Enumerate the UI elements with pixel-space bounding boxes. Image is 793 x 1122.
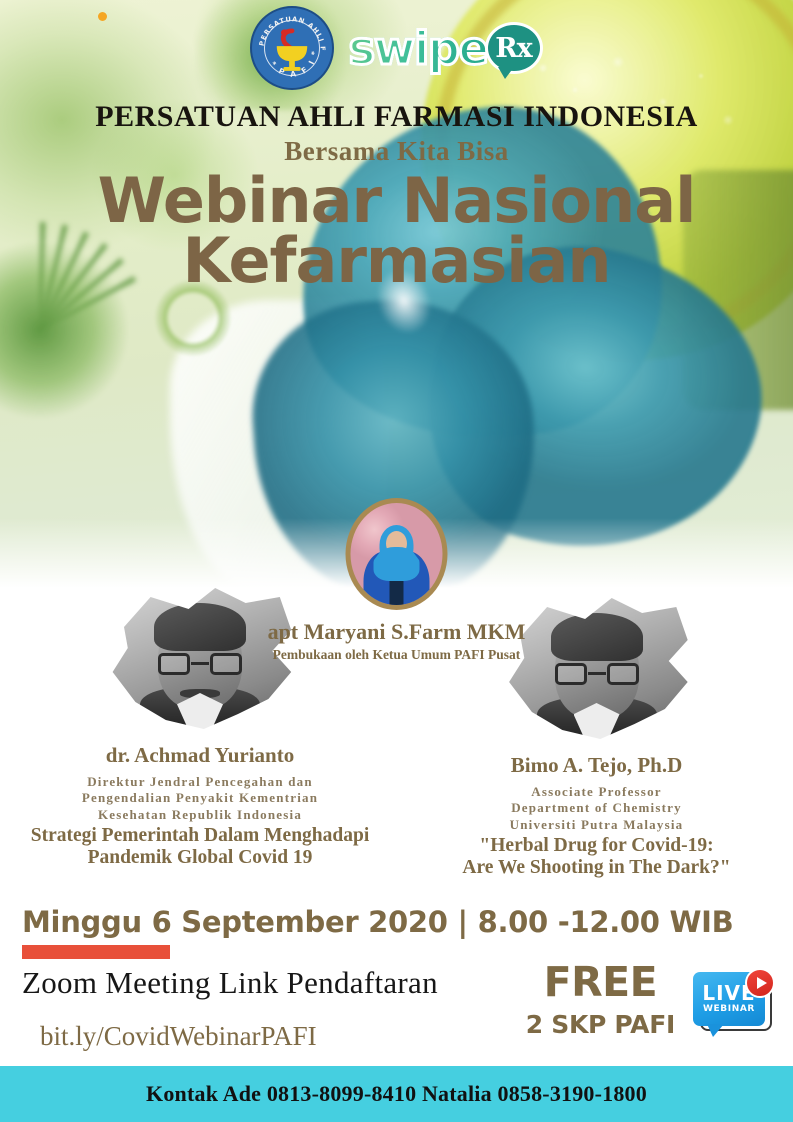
contact-footer: Kontak Ade 0813-8099-8410 Natalia 0858-3… bbox=[0, 1066, 793, 1122]
host-scarf-shape bbox=[374, 547, 420, 581]
page-title: Webinar Nasional Kefarmasian bbox=[0, 171, 793, 291]
speaker-left-topic-line2: Pandemik Global Covid 19 bbox=[0, 847, 400, 869]
pafi-bowl-of-hygieia-icon: PERSATUAN AHLI FARMASI INDONESIA * P A F… bbox=[252, 8, 332, 88]
host-block: apt Maryani S.Farm MKM Pembukaan oleh Ke… bbox=[0, 498, 793, 663]
speaker-right-affiliation-line2: Department of Chemistry bbox=[400, 800, 793, 816]
play-icon bbox=[745, 968, 775, 998]
logo-row: PERSATUAN AHLI FARMASI INDONESIA * P A F… bbox=[0, 6, 793, 90]
red-accent-bar bbox=[22, 945, 170, 959]
speaker-right-affiliation-line1: Associate Professor bbox=[400, 784, 793, 800]
rx-label: Rx bbox=[495, 33, 532, 64]
title-block: PERSATUAN AHLI FARMASI INDONESIA Bersama… bbox=[0, 100, 793, 291]
speaker-left-affiliation-line3: Kesehatan Republik Indonesia bbox=[0, 807, 400, 823]
speaker-right-topic-line2: Are We Shooting in The Dark?" bbox=[400, 857, 793, 879]
skp-label: 2 SKP PAFI bbox=[526, 1010, 675, 1039]
speaker-right-affiliation: Associate Professor Department of Chemis… bbox=[400, 784, 793, 833]
live-webinar-badge: LIVE WEBINAR bbox=[689, 968, 781, 1050]
event-date-time: Minggu 6 September 2020 | 8.00 -12.00 WI… bbox=[0, 905, 793, 939]
speaker-left-affiliation-line2: Pengendalian Penyakit Kementrian bbox=[0, 790, 400, 806]
organization-name: PERSATUAN AHLI FARMASI INDONESIA bbox=[0, 100, 793, 134]
pafi-logo: PERSATUAN AHLI FARMASI INDONESIA * P A F… bbox=[250, 6, 334, 90]
speaker-left-topic-line1: Strategi Pemerintah Dalam Menghadapi bbox=[0, 825, 400, 847]
rx-speech-bubble-icon: Rx bbox=[485, 22, 543, 74]
speaker-left-affiliation: Direktur Jendral Pencegahan dan Pengenda… bbox=[0, 774, 400, 823]
swipe-rx-logo: swipe Rx bbox=[348, 22, 542, 75]
speaker-left-topic: Strategi Pemerintah Dalam Menghadapi Pan… bbox=[0, 825, 400, 869]
free-label: FREE bbox=[526, 962, 675, 1003]
contact-info: Kontak Ade 0813-8099-8410 Natalia 0858-3… bbox=[146, 1081, 647, 1107]
host-avatar bbox=[346, 498, 448, 610]
speaker-left-affiliation-line1: Direktur Jendral Pencegahan dan bbox=[0, 774, 400, 790]
speaker-right-affiliation-line3: Universiti Putra Malaysia bbox=[400, 817, 793, 833]
tagline: Bersama Kita Bisa bbox=[0, 136, 793, 167]
speaker-left-name: dr. Achmad Yurianto bbox=[0, 743, 400, 768]
webinar-poster: PERSATUAN AHLI FARMASI INDONESIA * P A F… bbox=[0, 0, 793, 1122]
host-role: Pembukaan oleh Ketua Umum PAFI Pusat bbox=[0, 647, 793, 663]
swipe-i-dot bbox=[98, 12, 107, 21]
title-line-2: Kefarmasian bbox=[0, 231, 793, 291]
swipe-wordmark: swipe bbox=[348, 22, 487, 75]
free-badge: FREE 2 SKP PAFI bbox=[526, 962, 675, 1039]
speaker-right-topic-line1: "Herbal Drug for Covid-19: bbox=[400, 835, 793, 857]
speaker-right-topic: "Herbal Drug for Covid-19: Are We Shooti… bbox=[400, 835, 793, 879]
speaker-right-name: Bimo A. Tejo, Ph.D bbox=[400, 753, 793, 778]
webinar-label: WEBINAR bbox=[703, 1004, 755, 1014]
speaker-right-glasses-icon bbox=[555, 663, 639, 685]
host-name: apt Maryani S.Farm MKM bbox=[0, 619, 793, 645]
